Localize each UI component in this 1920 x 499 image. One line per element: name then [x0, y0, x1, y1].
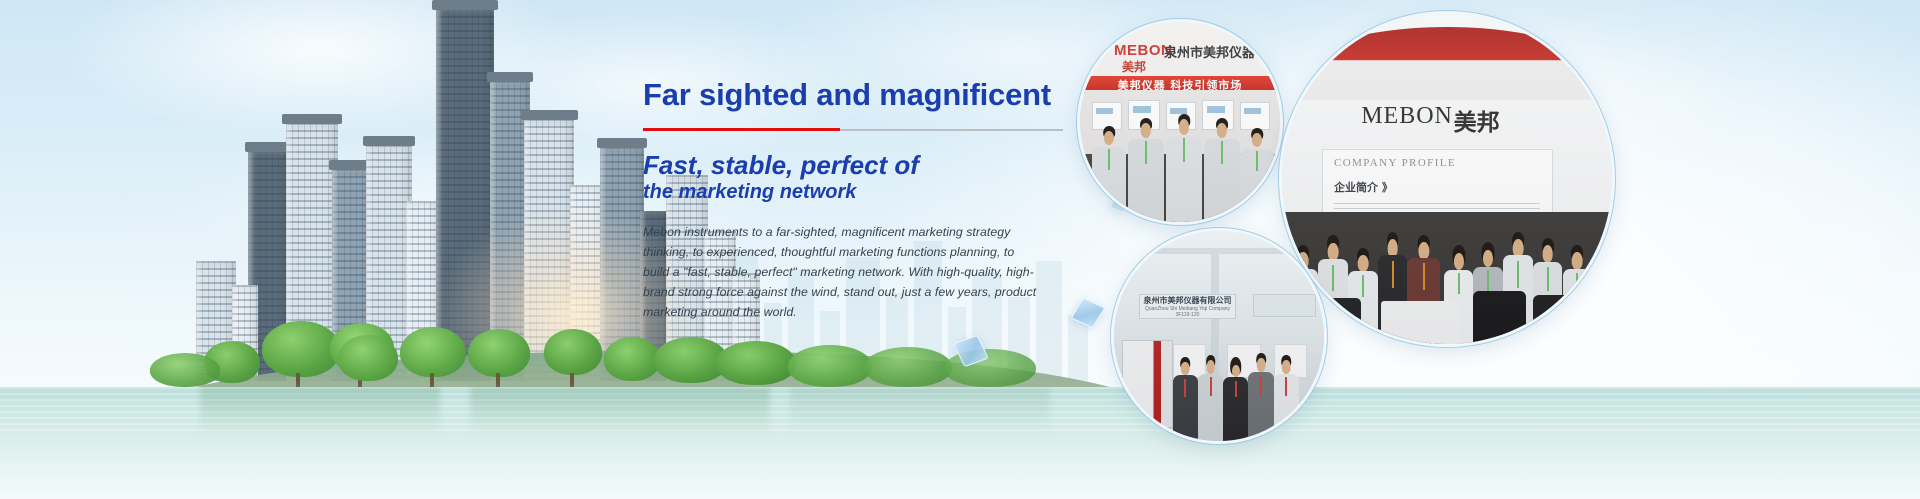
- tree-reflection: [470, 387, 770, 435]
- divider-red-segment: [643, 128, 840, 131]
- person: [1173, 357, 1198, 441]
- booth-number: 3F119-120: [1176, 312, 1200, 318]
- booth-company-sign: 泉州市美邦仪器有限公司 QuanZhou Shi Meibang Yiqi Co…: [1139, 294, 1236, 319]
- tree: [716, 341, 796, 385]
- ceiling-beam: [1114, 248, 1324, 254]
- person: [1198, 355, 1223, 441]
- company-profile-photo[interactable]: MEBON 美邦 COMPANY PROFILE 企业简介 》: [1282, 14, 1612, 344]
- tree-reflection: [790, 387, 1050, 435]
- tree: [400, 327, 466, 377]
- tree: [864, 347, 952, 387]
- tree: [150, 353, 220, 387]
- booth-header-text: 泉州市美邦仪器: [1164, 42, 1255, 61]
- instrument-cabinet: [1122, 340, 1172, 428]
- tree-reflection: [200, 387, 440, 435]
- thumbs-up-team-photo[interactable]: 泉州市美邦仪器有限公司 QuanZhou Shi Meibang Yiqi Co…: [1114, 231, 1324, 441]
- person: [1166, 114, 1202, 222]
- tree: [604, 337, 660, 381]
- building-tallest: [436, 9, 494, 381]
- booth-sign-secondary: [1253, 294, 1316, 317]
- booth-poster: [1240, 102, 1270, 130]
- office-chair: [1533, 295, 1586, 345]
- banner-paragraph: Mebon instruments to a far-sighted, magn…: [643, 222, 1038, 322]
- hero-banner: Far sighted and magnificent Fast, stable…: [0, 0, 1920, 499]
- title-divider: [643, 128, 1063, 131]
- tree: [338, 335, 398, 381]
- mebon-sign-latin: MEBON: [1361, 103, 1453, 130]
- person: [1248, 353, 1273, 441]
- person: [1274, 355, 1299, 441]
- tree: [468, 329, 530, 377]
- booth-team-photo[interactable]: MEBON 美邦 泉州市美邦仪器 美邦仪器 科技引领市场: [1080, 22, 1280, 222]
- person: [1092, 126, 1126, 222]
- divider-grey-segment: [840, 129, 1063, 131]
- office-chair: [1473, 291, 1526, 344]
- person: [1204, 118, 1240, 222]
- mebon-sign-cn: 美邦: [1454, 103, 1500, 137]
- board-title-en: COMPANY PROFILE: [1334, 157, 1456, 169]
- page-title: Far sighted and magnificent: [643, 78, 1073, 112]
- meeting-table: [1381, 301, 1460, 344]
- mebon-logo-cn: 美邦: [1122, 58, 1146, 75]
- booth-sign-cn: 泉州市美邦仪器有限公司: [1143, 295, 1231, 306]
- tree: [262, 321, 340, 377]
- person: [1240, 128, 1274, 222]
- board-title-cn: 企业简介 》: [1334, 179, 1393, 195]
- person: [1128, 118, 1164, 222]
- banner-copy: Far sighted and magnificent Fast, stable…: [643, 78, 1073, 322]
- subheading-line-2: the marketing network: [643, 180, 1073, 204]
- subheading-line-1: Fast, stable, perfect of: [643, 151, 1073, 180]
- person: [1223, 357, 1248, 441]
- tree: [544, 329, 602, 375]
- tree: [788, 345, 872, 387]
